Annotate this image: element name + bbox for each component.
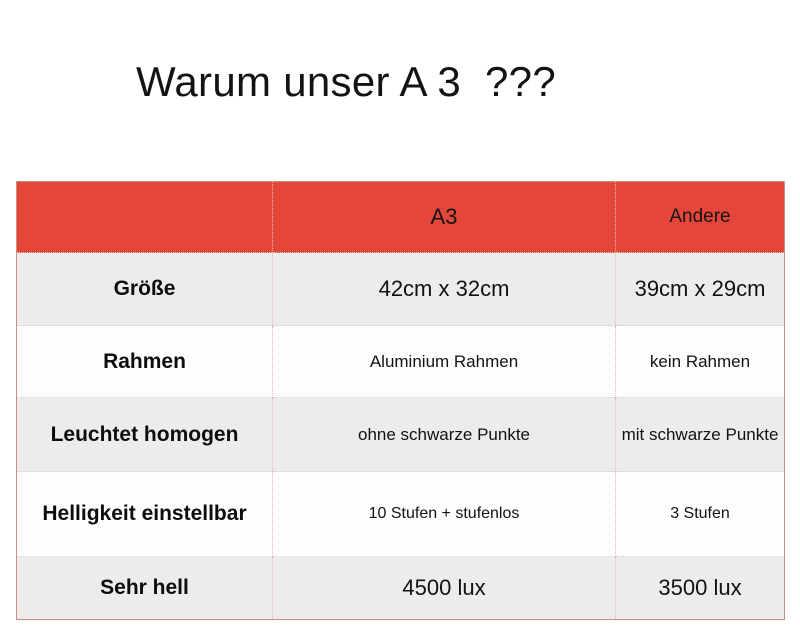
row-value-a3-groesse: 42cm x 32cm bbox=[273, 253, 616, 326]
page-title: Warum unser A 3 ??? bbox=[136, 56, 556, 108]
table-row: Sehr hell 4500 lux 3500 lux bbox=[17, 557, 785, 620]
row-label-sehr-hell: Sehr hell bbox=[17, 557, 273, 620]
column-header-a3: A3 bbox=[273, 182, 616, 253]
row-label-groesse: Größe bbox=[17, 253, 273, 326]
table-row: Leuchtet homogen ohne schwarze Punkte mi… bbox=[17, 398, 785, 472]
comparison-table: A3 Andere Größe 42cm x 32cm 39cm x 29cm … bbox=[16, 181, 785, 620]
column-header-andere: Andere bbox=[616, 182, 785, 253]
row-value-a3-rahmen: Aluminium Rahmen bbox=[273, 326, 616, 398]
row-value-andere-groesse: 39cm x 29cm bbox=[616, 253, 785, 326]
row-value-andere-leuchtet-homogen: mit schwarze Punkte bbox=[616, 398, 785, 472]
column-header-feature bbox=[17, 182, 273, 253]
row-value-a3-leuchtet-homogen: ohne schwarze Punkte bbox=[273, 398, 616, 472]
table-row: Rahmen Aluminium Rahmen kein Rahmen bbox=[17, 326, 785, 398]
table-header: A3 Andere bbox=[17, 182, 785, 253]
row-value-andere-helligkeit-einstellbar: 3 Stufen bbox=[616, 472, 785, 557]
row-value-a3-helligkeit-einstellbar: 10 Stufen + stufenlos bbox=[273, 472, 616, 557]
row-value-andere-sehr-hell: 3500 lux bbox=[616, 557, 785, 620]
row-value-andere-rahmen: kein Rahmen bbox=[616, 326, 785, 398]
table-row: Größe 42cm x 32cm 39cm x 29cm bbox=[17, 253, 785, 326]
table-body: Größe 42cm x 32cm 39cm x 29cm Rahmen Alu… bbox=[17, 253, 785, 620]
table-row: Helligkeit einstellbar 10 Stufen + stufe… bbox=[17, 472, 785, 557]
row-label-leuchtet-homogen: Leuchtet homogen bbox=[17, 398, 273, 472]
row-value-a3-sehr-hell: 4500 lux bbox=[273, 557, 616, 620]
row-label-helligkeit-einstellbar: Helligkeit einstellbar bbox=[17, 472, 273, 557]
row-label-rahmen: Rahmen bbox=[17, 326, 273, 398]
table-header-row: A3 Andere bbox=[17, 182, 785, 253]
